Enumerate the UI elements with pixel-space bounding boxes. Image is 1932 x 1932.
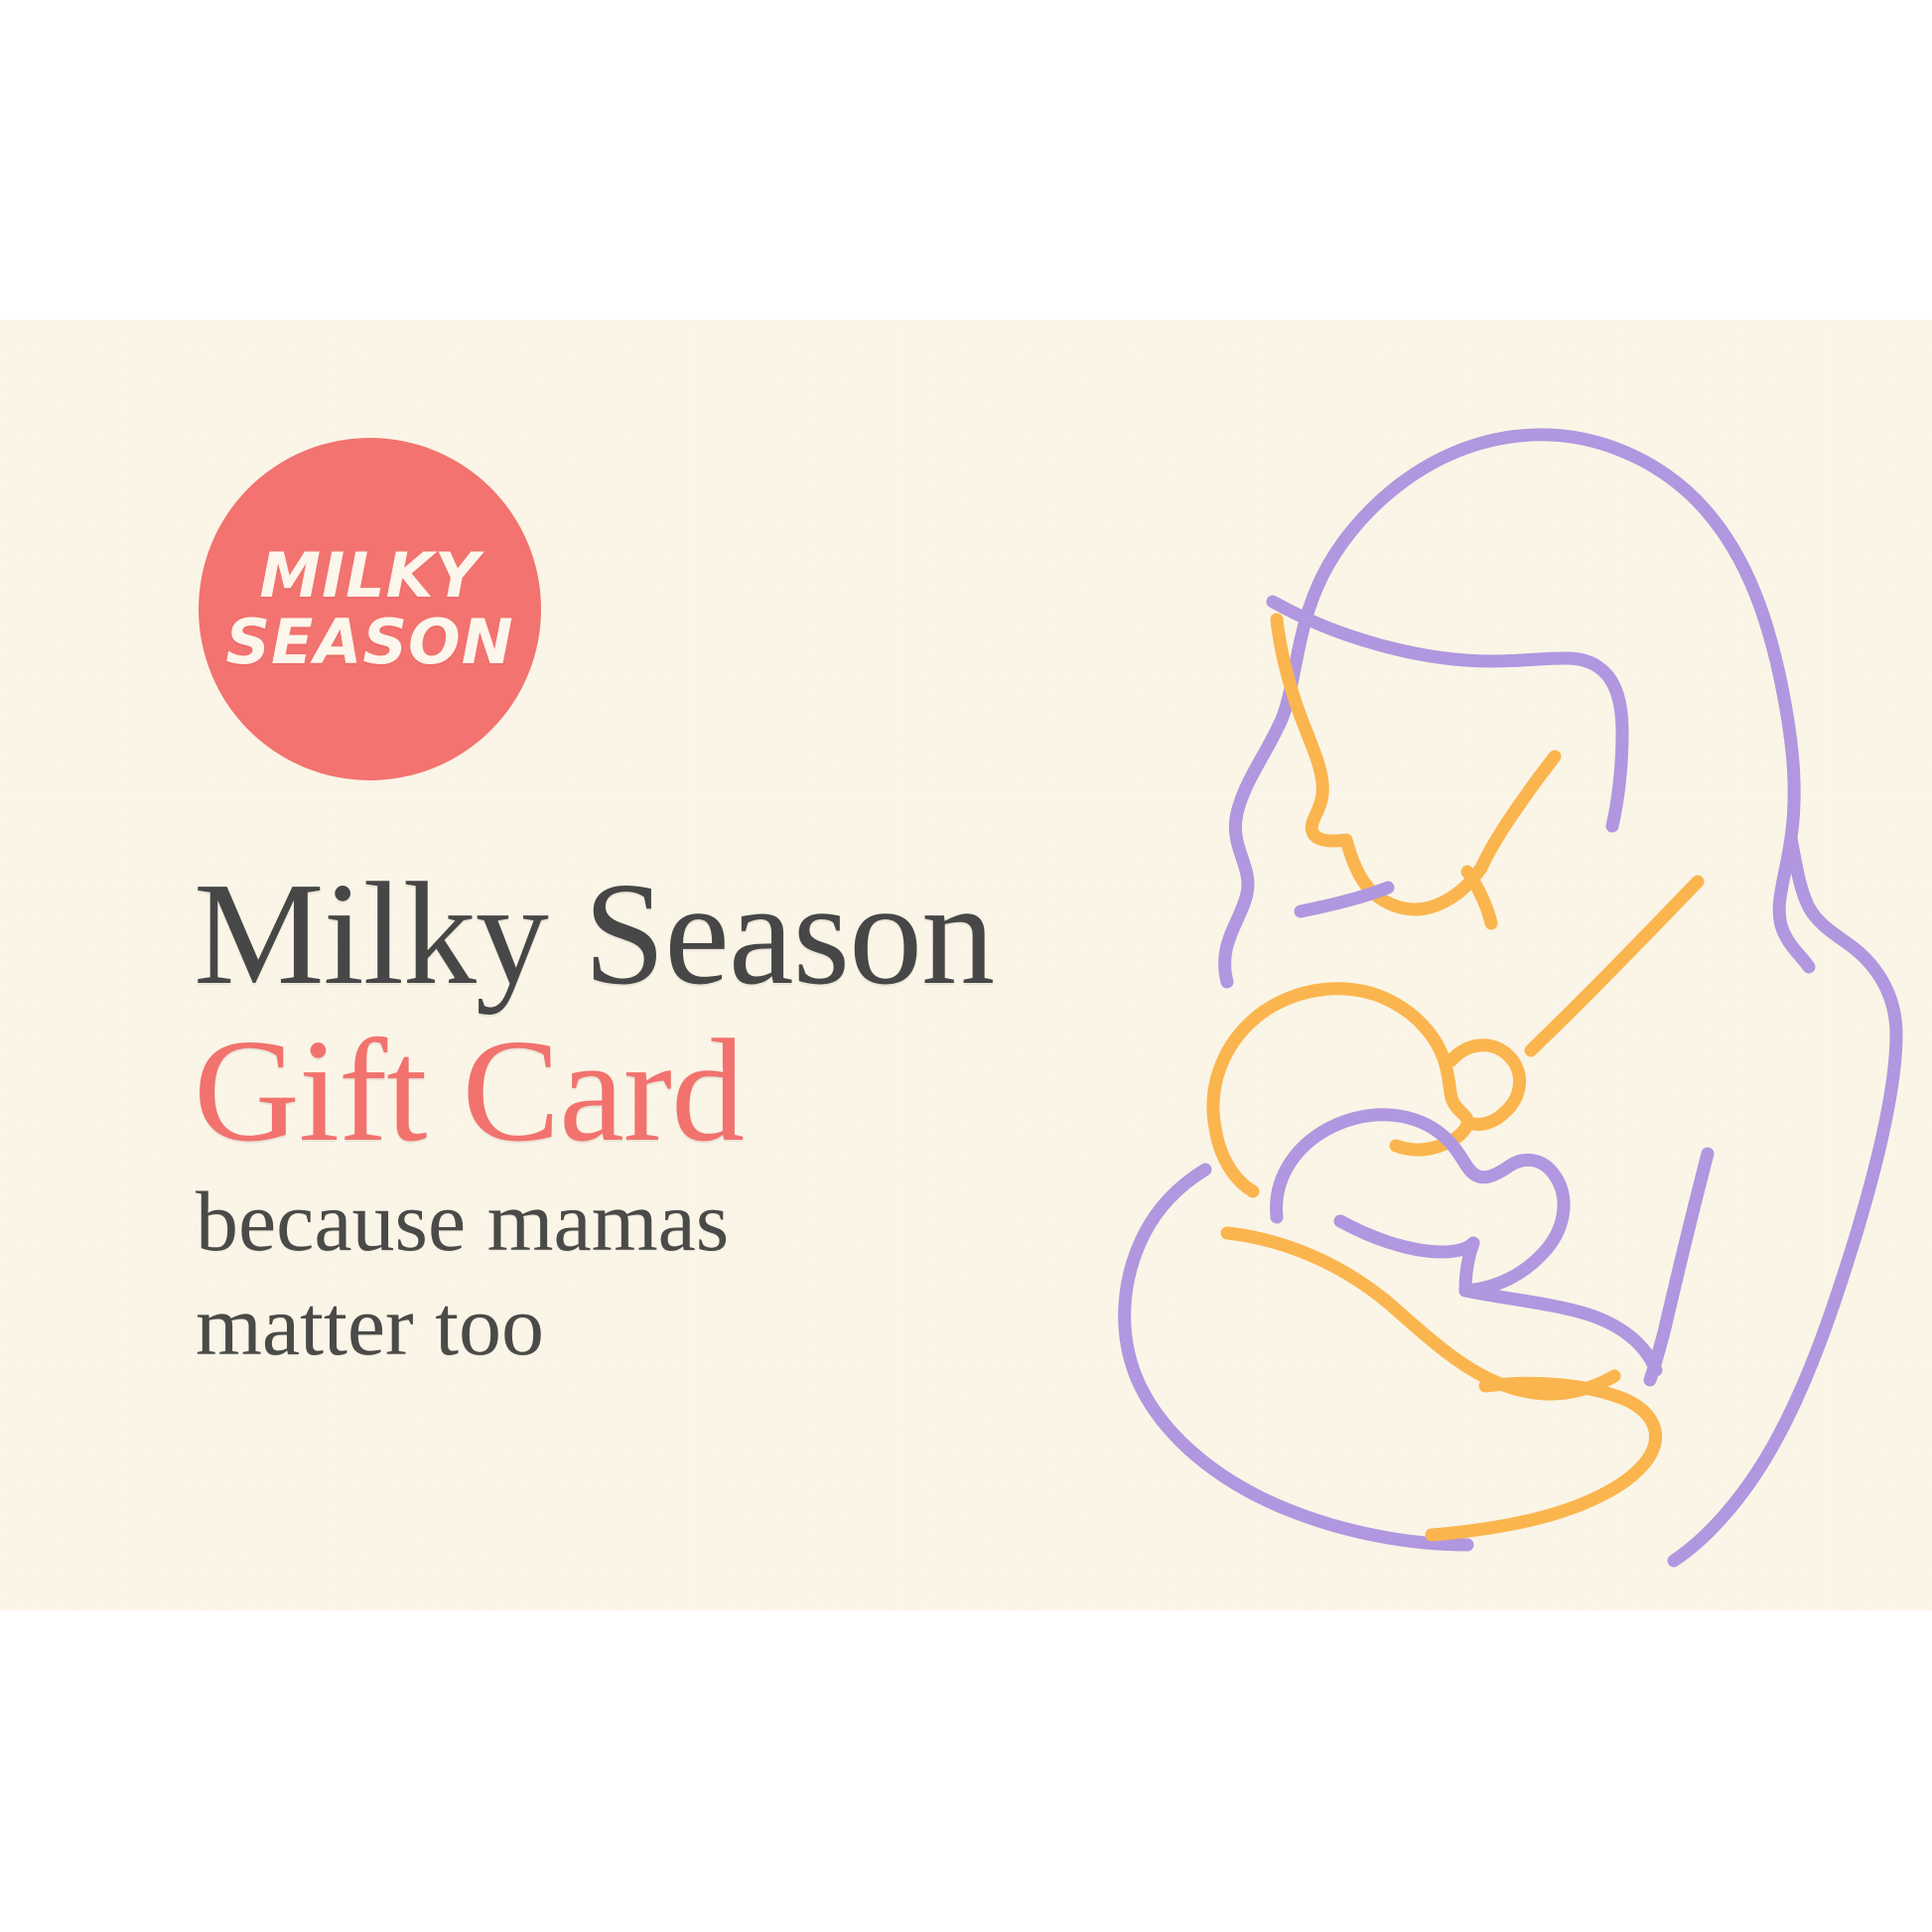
- mother-forearm-icon: [1125, 1170, 1467, 1545]
- mother-hair-outline-icon: [1225, 435, 1809, 982]
- mother-neck-icon: [1481, 757, 1555, 868]
- headline-line-brand: Milky Season: [194, 856, 1167, 1013]
- mother-hand-icon: [1227, 1233, 1614, 1394]
- headline-block: Milky Season Gift Card: [194, 856, 1167, 1171]
- mother-fingers-icon: [1432, 1383, 1656, 1535]
- baby-bottom-icon: [1465, 1291, 1656, 1370]
- gift-card: MILKY SEASON Milky Season Gift Card beca…: [0, 320, 1932, 1610]
- baby-cheek-icon: [1215, 1128, 1253, 1191]
- tagline-block: because mamas matter too: [196, 1170, 970, 1378]
- mother-holding-baby-illustration: [1102, 330, 1932, 1610]
- brand-badge: MILKY SEASON: [199, 438, 541, 780]
- gift-card-text-column: MILKY SEASON Milky Season Gift Card beca…: [194, 320, 1147, 1610]
- mother-chest-line-icon: [1531, 882, 1698, 1050]
- mother-collarbone-icon: [1467, 872, 1491, 923]
- brand-badge-line-1: MILKY: [259, 543, 480, 609]
- page-canvas: MILKY SEASON Milky Season Gift Card beca…: [0, 0, 1932, 1932]
- tagline-line-1: because mamas: [196, 1170, 970, 1274]
- mother-elbow-icon: [1650, 1154, 1708, 1380]
- brand-badge-line-2: SEASON: [225, 610, 513, 675]
- tagline-line-2: matter too: [196, 1274, 970, 1378]
- headline-line-product: Gift Card: [194, 1013, 1167, 1170]
